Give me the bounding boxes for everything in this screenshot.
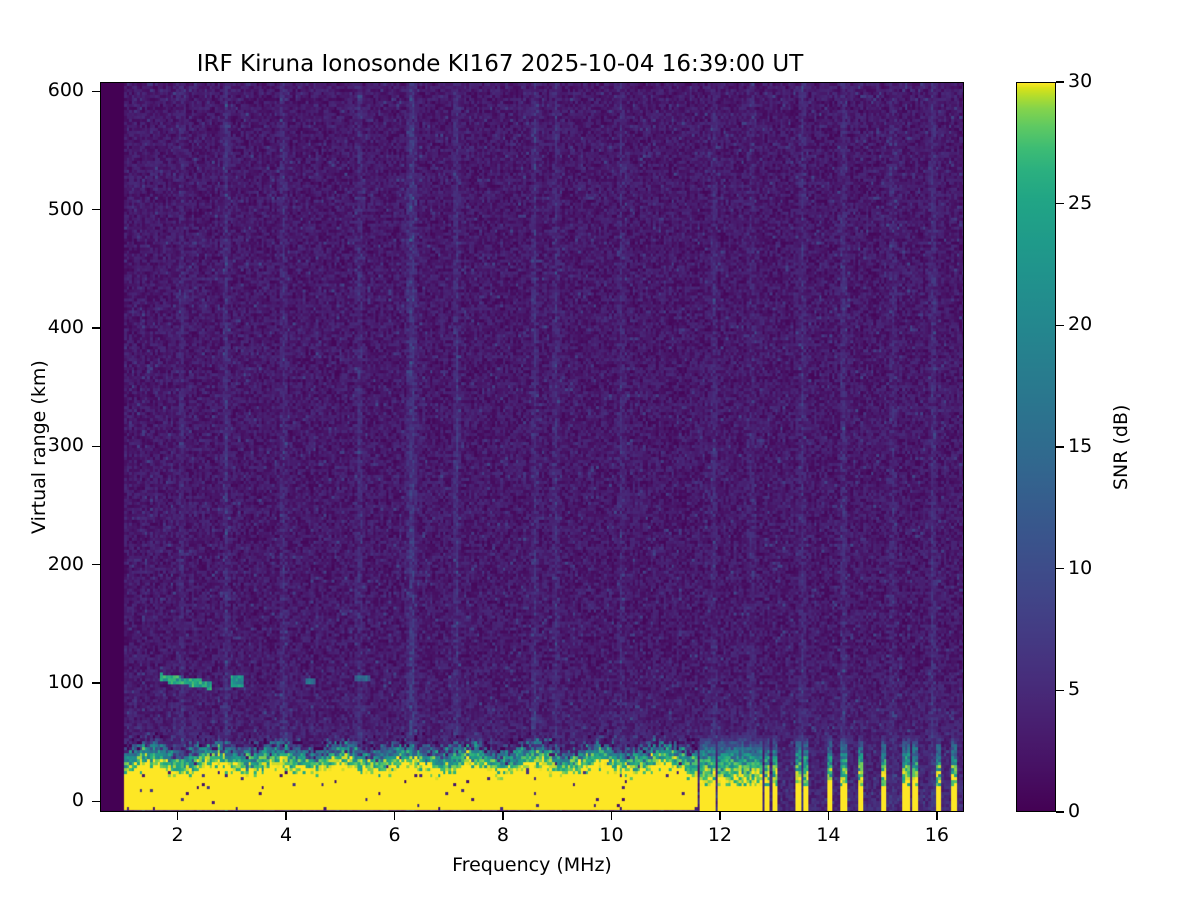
- colorbar-tick: [1056, 203, 1064, 204]
- x-axis-tick: [285, 812, 286, 820]
- x-axis-tick: [719, 812, 720, 820]
- colorbar-tick-label: 5: [1068, 678, 1080, 700]
- colorbar-tick: [1056, 690, 1064, 691]
- ionogram-figure: IRF Kiruna Ionosonde KI167 2025-10-04 16…: [0, 0, 1200, 900]
- colorbar-tick-label: 20: [1068, 313, 1092, 335]
- x-axis-tick-label: 10: [581, 824, 641, 846]
- y-axis-tick: [92, 91, 100, 92]
- x-axis-tick: [177, 812, 178, 820]
- colorbar-tick-label: 10: [1068, 557, 1092, 579]
- colorbar-label: SNR (dB): [1110, 404, 1132, 489]
- colorbar-tick: [1056, 81, 1064, 82]
- x-axis-tick-label: 2: [148, 824, 208, 846]
- colorbar-tick-label: 30: [1068, 70, 1092, 92]
- y-axis-tick-label: 200: [0, 553, 84, 575]
- ionogram-heatmap: [101, 83, 963, 811]
- x-axis-tick-label: 16: [907, 824, 967, 846]
- colorbar-tick: [1056, 325, 1064, 326]
- y-axis-tick-label: 500: [0, 198, 84, 220]
- x-axis-tick-label: 8: [473, 824, 533, 846]
- x-axis-label: Frequency (MHz): [100, 854, 964, 876]
- colorbar-tick: [1056, 446, 1064, 447]
- x-axis-tick: [611, 812, 612, 820]
- colorbar[interactable]: [1016, 82, 1056, 812]
- x-axis-tick: [502, 812, 503, 820]
- ionogram-plot-area[interactable]: [100, 82, 964, 812]
- x-axis-tick-label: 4: [256, 824, 316, 846]
- x-axis-tick-label: 14: [798, 824, 858, 846]
- x-axis-tick-label: 12: [690, 824, 750, 846]
- y-axis-tick: [92, 801, 100, 802]
- y-axis-tick-label: 600: [0, 79, 84, 101]
- y-axis-tick-label: 0: [0, 789, 84, 811]
- y-axis-tick-label: 100: [0, 671, 84, 693]
- y-axis-tick: [92, 564, 100, 565]
- y-axis-tick: [92, 209, 100, 210]
- x-axis-tick-label: 6: [365, 824, 425, 846]
- y-axis-tick: [92, 327, 100, 328]
- title-line-1: IRF Kiruna Ionosonde KI167 2025-10-04 16…: [197, 51, 804, 77]
- colorbar-tick: [1056, 568, 1064, 569]
- y-axis-label: Virtual range (km): [28, 360, 50, 534]
- y-axis-tick: [92, 682, 100, 683]
- x-axis-tick: [936, 812, 937, 820]
- colorbar-tick-label: 25: [1068, 192, 1092, 214]
- x-axis-tick: [394, 812, 395, 820]
- y-axis-tick: [92, 446, 100, 447]
- x-axis-tick: [828, 812, 829, 820]
- y-axis-tick-label: 400: [0, 316, 84, 338]
- colorbar-tick-label: 0: [1068, 800, 1080, 822]
- colorbar-tick-label: 15: [1068, 435, 1092, 457]
- colorbar-tick: [1056, 811, 1064, 812]
